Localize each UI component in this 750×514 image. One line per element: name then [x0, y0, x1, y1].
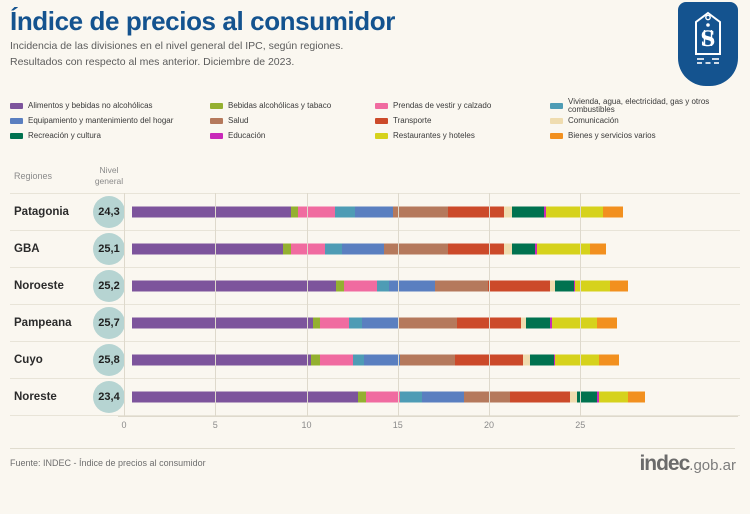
bar-segment[interactable]: [504, 207, 511, 218]
legend-item[interactable]: Alimentos y bebidas no alcohólicas: [10, 98, 210, 113]
region-label: Noroeste: [10, 280, 86, 292]
bar-segment[interactable]: [455, 355, 523, 366]
legend-item[interactable]: Restaurantes y hoteles: [375, 128, 550, 143]
legend-label: Vivienda, agua, electricidad, gas y otro…: [568, 98, 745, 114]
legend-swatch-icon: [550, 103, 563, 109]
stacked-bar: [132, 244, 606, 255]
region-label: Patagonia: [10, 206, 86, 218]
header-nivel-line2: general: [86, 176, 132, 187]
bar-segment[interactable]: [570, 392, 577, 403]
bar-segment[interactable]: [384, 244, 448, 255]
bar-segment[interactable]: [353, 355, 364, 366]
subtitle-line-2: Resultados con respecto al mes anterior.…: [10, 55, 650, 70]
legend-item[interactable]: Bebidas alcohólicas y tabaco: [210, 98, 375, 113]
legend-item[interactable]: Equipamiento y mantenimiento del hogar: [10, 113, 210, 128]
bar-segment[interactable]: [389, 281, 435, 292]
stacked-bar: [132, 318, 617, 329]
legend-label: Salud: [228, 117, 248, 125]
bar-segment[interactable]: [283, 244, 290, 255]
x-axis-tick-label: 0: [121, 420, 126, 430]
legend-label: Prendas de vestir y calzado: [393, 102, 491, 110]
bar-segment[interactable]: [362, 318, 399, 329]
legend-swatch-icon: [10, 103, 23, 109]
bar-area: [132, 268, 740, 304]
footer-divider: [10, 448, 735, 449]
table-row: Cuyo25,8: [10, 341, 740, 378]
region-label: Noreste: [10, 391, 86, 403]
nivel-general-cell: 24,3: [86, 196, 132, 228]
bar-area: [132, 342, 740, 378]
x-axis-tick-label: 5: [213, 420, 218, 430]
bar-segment[interactable]: [577, 392, 597, 403]
nivel-general-badge: 23,4: [93, 381, 125, 413]
legend-label: Restaurantes y hoteles: [393, 132, 475, 140]
bar-segment[interactable]: [599, 392, 628, 403]
bar-segment[interactable]: [422, 392, 464, 403]
bar-segment[interactable]: [464, 392, 510, 403]
table-row: Noroeste25,2: [10, 267, 740, 304]
region-label: Cuyo: [10, 354, 86, 366]
bar-segment[interactable]: [488, 281, 550, 292]
nivel-general-badge: 25,8: [93, 344, 125, 376]
bar-segment[interactable]: [291, 207, 298, 218]
bar-segment[interactable]: [342, 244, 384, 255]
bar-segment[interactable]: [512, 244, 536, 255]
bar-segment[interactable]: [599, 355, 619, 366]
legend-item[interactable]: Vivienda, agua, electricidad, gas y otro…: [550, 98, 745, 113]
indec-wordmark: indec.gob.ar: [639, 452, 736, 476]
bar-segment[interactable]: [537, 244, 590, 255]
legend-item[interactable]: Educación: [210, 128, 375, 143]
region-label: GBA: [10, 243, 86, 255]
x-axis-ticks: 0510152025: [0, 420, 750, 440]
table-row: Noreste23,4: [10, 378, 740, 416]
x-axis-tick-label: 10: [301, 420, 311, 430]
bar-segment[interactable]: [320, 318, 349, 329]
legend-label: Alimentos y bebidas no alcohólicas: [28, 102, 153, 110]
legend-swatch-icon: [375, 118, 388, 124]
legend-swatch-icon: [375, 103, 388, 109]
legend-swatch-icon: [550, 133, 563, 139]
bar-segment[interactable]: [132, 244, 283, 255]
chart-legend: Alimentos y bebidas no alcohólicasBebida…: [10, 98, 745, 143]
bar-segment[interactable]: [457, 318, 521, 329]
x-axis-tick-label: 20: [484, 420, 494, 430]
legend-label: Bienes y servicios varios: [568, 132, 656, 140]
legend-item[interactable]: Recreación y cultura: [10, 128, 210, 143]
bar-segment[interactable]: [523, 355, 530, 366]
bar-segment[interactable]: [355, 207, 393, 218]
legend-label: Recreación y cultura: [28, 132, 101, 140]
bar-segment[interactable]: [320, 355, 353, 366]
x-axis-tick-label: 15: [393, 420, 403, 430]
svg-text:S: S: [700, 26, 715, 51]
legend-swatch-icon: [375, 133, 388, 139]
legend-item[interactable]: Bienes y servicios varios: [550, 128, 745, 143]
bar-segment[interactable]: [555, 355, 599, 366]
bar-segment[interactable]: [526, 318, 550, 329]
indec-shield-logo: S: [678, 2, 738, 86]
bar-segment[interactable]: [132, 281, 336, 292]
legend-swatch-icon: [210, 118, 223, 124]
nivel-general-badge: 25,1: [93, 233, 125, 265]
bar-segment[interactable]: [298, 207, 335, 218]
column-headers: Regiones Nivel general: [10, 165, 740, 193]
legend-swatch-icon: [550, 118, 563, 124]
bar-segment[interactable]: [336, 281, 343, 292]
nivel-general-badge: 24,3: [93, 196, 125, 228]
bar-segment[interactable]: [400, 392, 422, 403]
legend-swatch-icon: [210, 103, 223, 109]
legend-label: Equipamiento y mantenimiento del hogar: [28, 117, 173, 125]
bar-segment[interactable]: [448, 244, 505, 255]
bar-segment[interactable]: [448, 207, 505, 218]
bar-area: [132, 194, 740, 230]
bar-segment[interactable]: [313, 318, 320, 329]
bar-segment[interactable]: [435, 281, 488, 292]
bar-segment[interactable]: [597, 318, 617, 329]
bar-segment[interactable]: [132, 355, 311, 366]
table-row: Patagonia24,3: [10, 193, 740, 230]
chart-rows: Patagonia24,3GBA25,1Noroeste25,2Pampeana…: [10, 193, 740, 416]
bar-segment[interactable]: [344, 281, 377, 292]
bar-area: [132, 305, 740, 341]
bar-segment[interactable]: [575, 281, 610, 292]
x-axis-tick-label: 25: [575, 420, 585, 430]
bar-segment[interactable]: [325, 244, 341, 255]
bar-area: [132, 231, 740, 267]
legend-item[interactable]: Comunicación: [550, 113, 745, 128]
bar-area: [132, 379, 740, 415]
legend-label: Comunicación: [568, 117, 619, 125]
stacked-bar: [132, 392, 645, 403]
header-regiones: Regiones: [10, 165, 86, 181]
bar-segment[interactable]: [555, 281, 573, 292]
bar-segment[interactable]: [603, 207, 623, 218]
region-label: Pampeana: [10, 317, 86, 329]
bar-segment[interactable]: [377, 281, 390, 292]
legend-item[interactable]: Prendas de vestir y calzado: [375, 98, 550, 113]
brand-suffix: .gob.ar: [689, 457, 736, 474]
bar-segment[interactable]: [132, 318, 313, 329]
table-row: Pampeana25,7: [10, 304, 740, 341]
table-row: GBA25,1: [10, 230, 740, 267]
legend-swatch-icon: [10, 133, 23, 139]
header: Índice de precios al consumidor Incidenc…: [10, 8, 650, 70]
bar-segment[interactable]: [335, 207, 355, 218]
header-nivel-line1: Nivel: [86, 165, 132, 176]
nivel-general-cell: 25,7: [86, 307, 132, 339]
legend-swatch-icon: [10, 118, 23, 124]
bar-segment[interactable]: [291, 244, 326, 255]
nivel-general-cell: 23,4: [86, 381, 132, 413]
stacked-bar: [132, 281, 628, 292]
bar-segment[interactable]: [530, 355, 554, 366]
bar-segment[interactable]: [590, 244, 606, 255]
legend-item[interactable]: Salud: [210, 113, 375, 128]
bar-segment[interactable]: [552, 318, 598, 329]
bar-segment[interactable]: [504, 244, 511, 255]
stacked-bar: [132, 355, 619, 366]
bar-segment[interactable]: [132, 207, 291, 218]
bar-segment[interactable]: [349, 318, 362, 329]
nivel-general-cell: 25,2: [86, 270, 132, 302]
nivel-general-cell: 25,1: [86, 233, 132, 265]
nivel-general-badge: 25,7: [93, 307, 125, 339]
source-note: Fuente: INDEC - Índice de precios al con…: [10, 458, 206, 468]
legend-item[interactable]: Transporte: [375, 113, 550, 128]
legend-label: Bebidas alcohólicas y tabaco: [228, 102, 331, 110]
price-tag-dollar-icon: S: [686, 2, 730, 72]
bar-segment[interactable]: [366, 392, 401, 403]
bar-segment[interactable]: [132, 392, 358, 403]
stacked-bar: [132, 207, 623, 218]
legend-label: Educación: [228, 132, 265, 140]
header-nivel-general: Nivel general: [86, 165, 132, 186]
bar-segment[interactable]: [398, 318, 456, 329]
bar-segment[interactable]: [610, 281, 628, 292]
subtitle-line-1: Incidencia de las divisiones en el nivel…: [10, 39, 650, 54]
nivel-general-cell: 25,8: [86, 344, 132, 376]
bar-segment[interactable]: [311, 355, 320, 366]
chart-table: Regiones Nivel general Patagonia24,3GBA2…: [10, 165, 740, 416]
bar-segment[interactable]: [628, 392, 644, 403]
bar-segment[interactable]: [364, 355, 401, 366]
bar-segment[interactable]: [510, 392, 570, 403]
bar-segment[interactable]: [546, 207, 603, 218]
x-axis-line: [118, 416, 738, 417]
brand-main: indec: [639, 452, 689, 475]
bar-segment[interactable]: [358, 392, 365, 403]
bar-segment[interactable]: [400, 355, 455, 366]
bar-segment[interactable]: [393, 207, 448, 218]
legend-swatch-icon: [210, 133, 223, 139]
nivel-general-badge: 25,2: [93, 270, 125, 302]
legend-label: Transporte: [393, 117, 431, 125]
page-title: Índice de precios al consumidor: [10, 8, 650, 35]
bar-segment[interactable]: [512, 207, 545, 218]
